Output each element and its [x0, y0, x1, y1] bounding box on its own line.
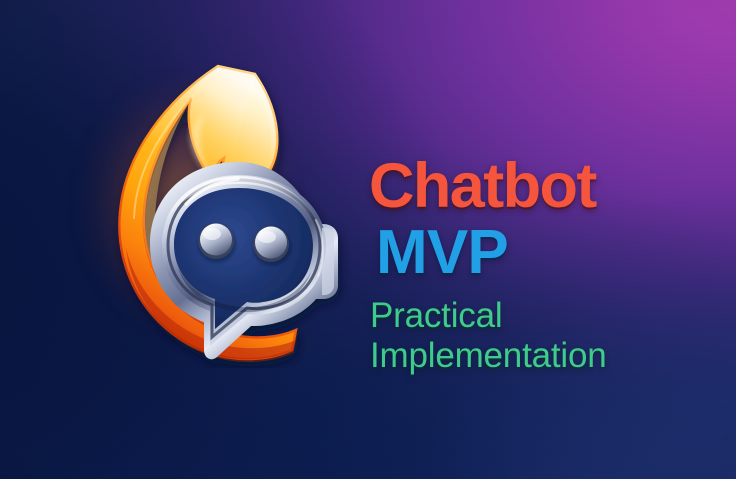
title-text-block: Chatbot MVP Practical Implementation — [369, 152, 719, 375]
chatbot-flame-logo — [108, 58, 364, 368]
tagline-line-1: Practical — [370, 296, 719, 335]
title-accent-mvp: MVP — [376, 220, 719, 286]
tagline-line-2: Implementation — [370, 336, 719, 375]
chatbot-mvp-title-banner: Chatbot MVP Practical Implementation — [0, 0, 736, 479]
page-title: Chatbot — [369, 152, 719, 220]
logo-artwork — [108, 58, 364, 368]
bot-eye-left-icon — [198, 223, 234, 259]
bot-eye-right-icon — [253, 226, 289, 262]
